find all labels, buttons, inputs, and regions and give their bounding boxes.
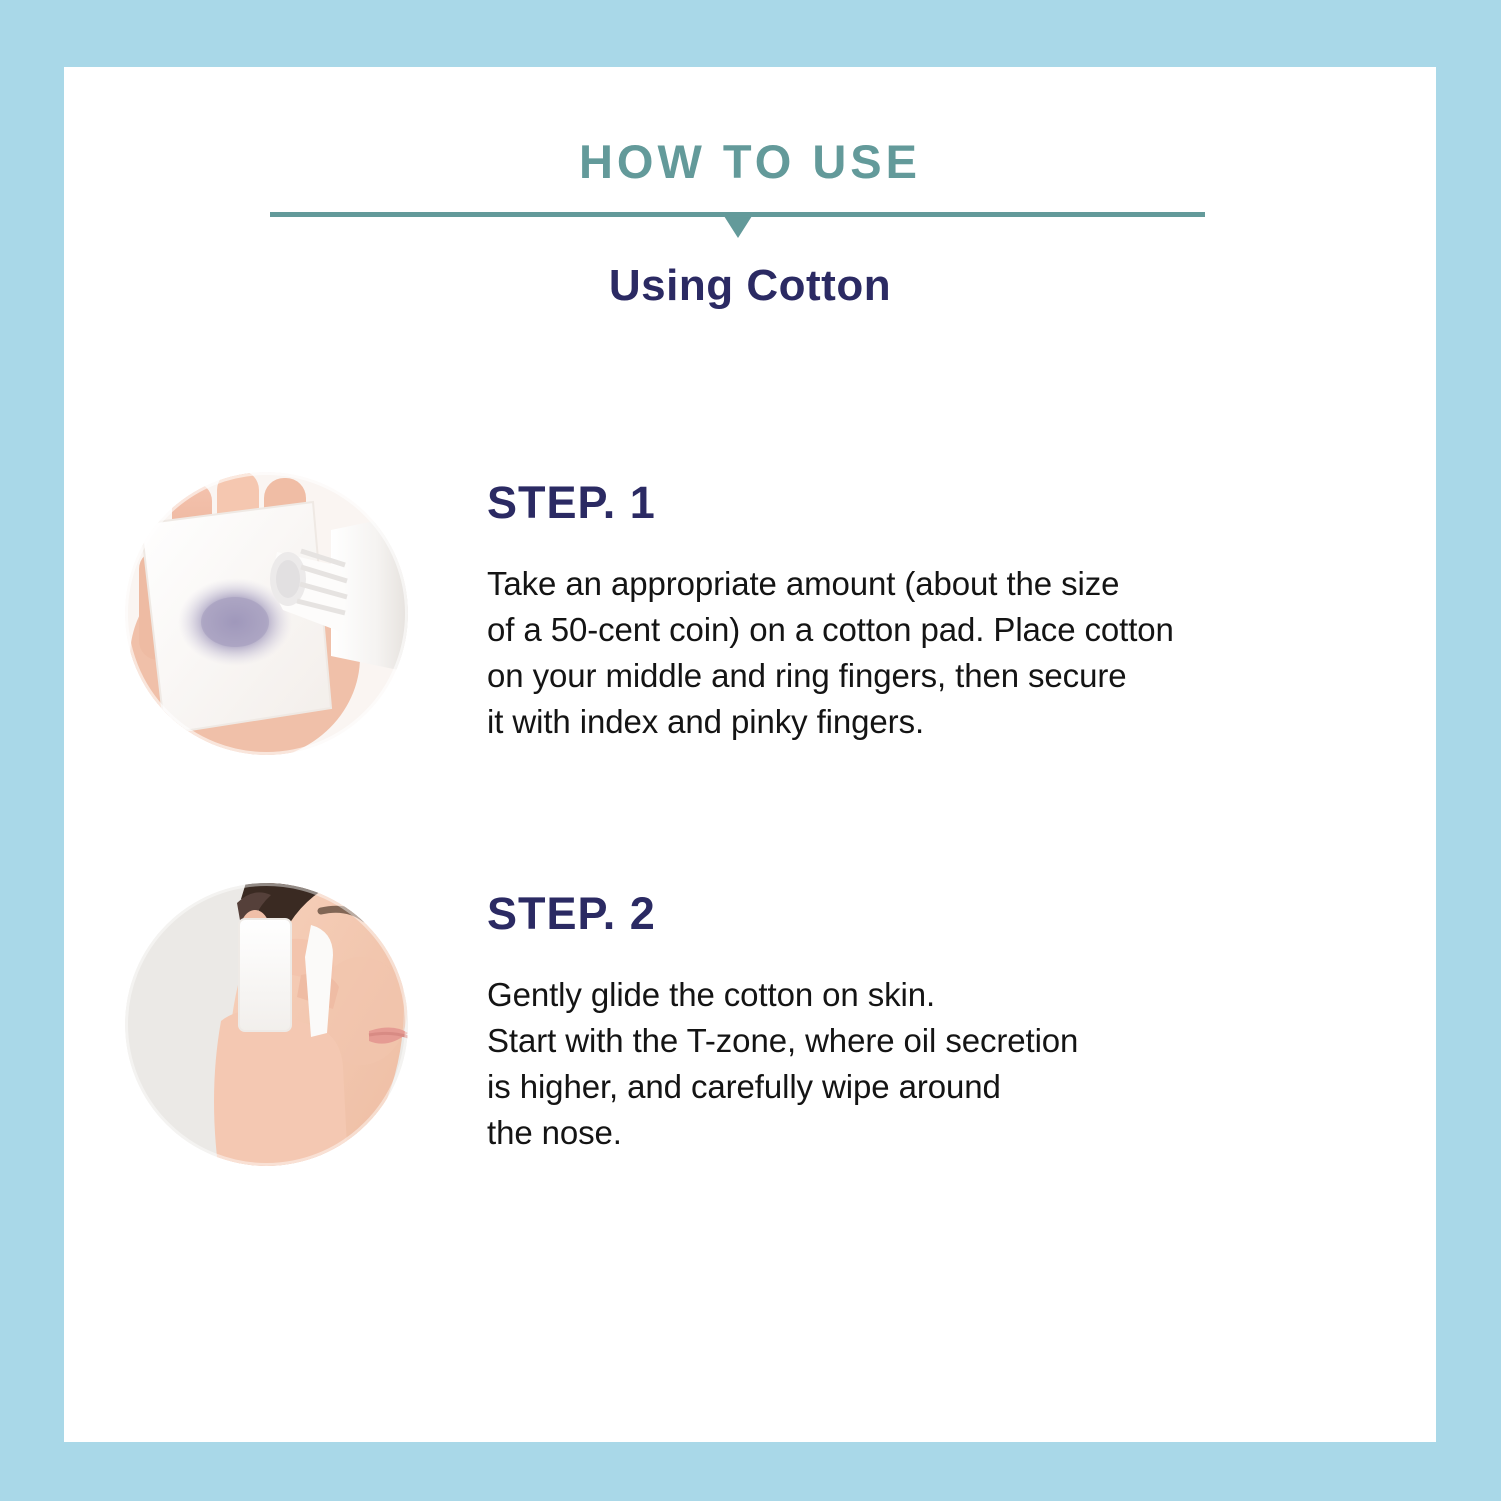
step-2-description: Gently glide the cotton on skin. Start w… <box>487 936 1327 1156</box>
content-panel: HOW TO USE Using Cotton <box>64 67 1436 1442</box>
page-title: Using Cotton <box>64 264 1436 308</box>
poster-root: HOW TO USE Using Cotton <box>0 0 1501 1501</box>
step-2-body: STEP. 2 Gently glide the cotton on skin.… <box>487 883 1327 1156</box>
chevron-down-icon <box>724 216 752 238</box>
header-divider <box>270 212 1205 242</box>
step-1-image <box>125 472 408 755</box>
step-2-title: STEP. 2 <box>487 883 1327 936</box>
step-2-image <box>125 883 408 1166</box>
step-1-description: Take an appropriate amount (about the si… <box>487 525 1327 745</box>
step-1-body: STEP. 1 Take an appropriate amount (abou… <box>487 472 1327 745</box>
page-kicker: HOW TO USE <box>64 138 1436 185</box>
step-1-title: STEP. 1 <box>487 472 1327 525</box>
